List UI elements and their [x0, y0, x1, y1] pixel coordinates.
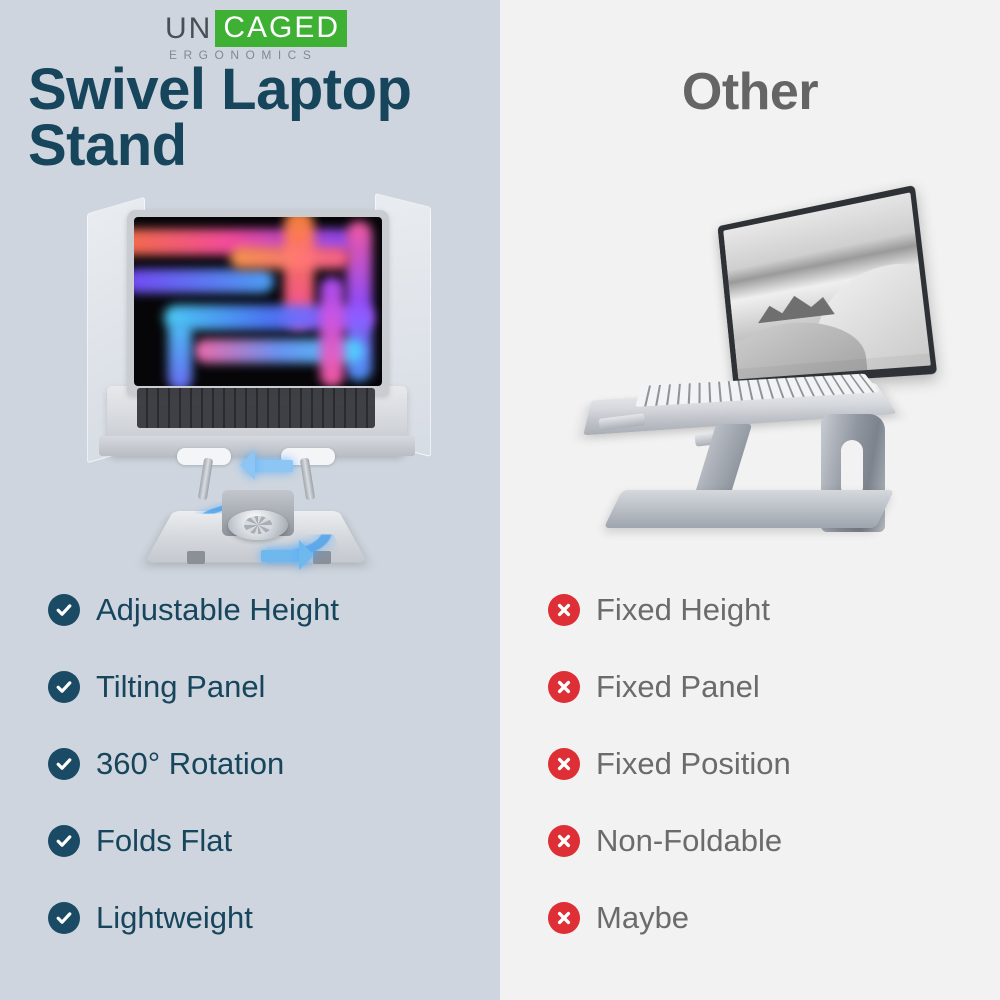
feature-label: Lightweight	[96, 900, 253, 936]
check-icon	[48, 825, 80, 857]
swivel-stand-product-image	[85, 200, 430, 550]
comparison-infographic: UN CAGED ERGONOMICS Swivel Laptop Stand …	[0, 0, 1000, 1000]
feature-label: Fixed Position	[596, 746, 791, 782]
feature-row-folds-flat: Folds Flat	[48, 820, 488, 862]
laptop-screen	[134, 217, 382, 386]
logo-text-caged: CAGED	[215, 10, 347, 47]
base-foot-left	[187, 551, 205, 564]
cross-icon	[548, 825, 580, 857]
feature-row-non-foldable: Non-Foldable	[548, 820, 988, 862]
stand-support-tray	[99, 436, 415, 456]
feature-row-maybe: Maybe	[548, 897, 988, 939]
feature-label: Tilting Panel	[96, 669, 265, 705]
left-product-title: Swivel Laptop Stand	[28, 62, 498, 175]
cross-icon	[548, 594, 580, 626]
rotation-arrow-top-tail	[251, 460, 293, 472]
check-icon	[48, 671, 80, 703]
feature-label: 360° Rotation	[96, 746, 284, 782]
feature-label: Adjustable Height	[96, 592, 339, 628]
cross-icon	[548, 902, 580, 934]
feature-label: Maybe	[596, 900, 689, 936]
rotation-arrow-top-head	[225, 450, 255, 480]
cross-icon	[548, 671, 580, 703]
check-icon	[48, 748, 80, 780]
swivel-disc	[228, 510, 288, 540]
feature-row-fixed-height: Fixed Height	[548, 589, 988, 631]
right-product-title: Other	[500, 62, 1000, 122]
feature-row-360-rotation: 360° Rotation	[48, 743, 488, 785]
brand-logo: UN CAGED ERGONOMICS	[165, 12, 360, 62]
rotation-arrow-bottom-tail	[261, 550, 303, 562]
check-icon	[48, 902, 80, 934]
rotation-arrow-bottom-head	[299, 540, 329, 570]
feature-label: Fixed Height	[596, 592, 770, 628]
feature-row-fixed-position: Fixed Position	[548, 743, 988, 785]
feature-label: Non-Foldable	[596, 823, 782, 859]
other-laptop-lid	[717, 185, 937, 387]
feature-row-adjustable-height: Adjustable Height	[48, 589, 488, 631]
feature-row-lightweight: Lightweight	[48, 897, 488, 939]
feature-label: Fixed Panel	[596, 669, 760, 705]
fixed-riser-stand-product-image	[585, 200, 945, 540]
other-laptop-screen	[723, 192, 931, 379]
check-icon	[48, 594, 80, 626]
cross-icon	[548, 748, 580, 780]
feature-row-fixed-panel: Fixed Panel	[548, 666, 988, 708]
logo-wordmark: UN CAGED	[165, 12, 360, 45]
pro-feature-list: Adjustable Height Tilting Panel 360° Rot…	[48, 589, 488, 974]
feature-label: Folds Flat	[96, 823, 232, 859]
riser-base-foot	[604, 490, 895, 528]
laptop-lid	[127, 210, 389, 395]
feature-row-tilting-panel: Tilting Panel	[48, 666, 488, 708]
laptop-keyboard	[137, 388, 375, 428]
con-feature-list: Fixed Height Fixed Panel Fixed Position …	[548, 589, 988, 974]
logo-text-un: UN	[165, 12, 212, 45]
